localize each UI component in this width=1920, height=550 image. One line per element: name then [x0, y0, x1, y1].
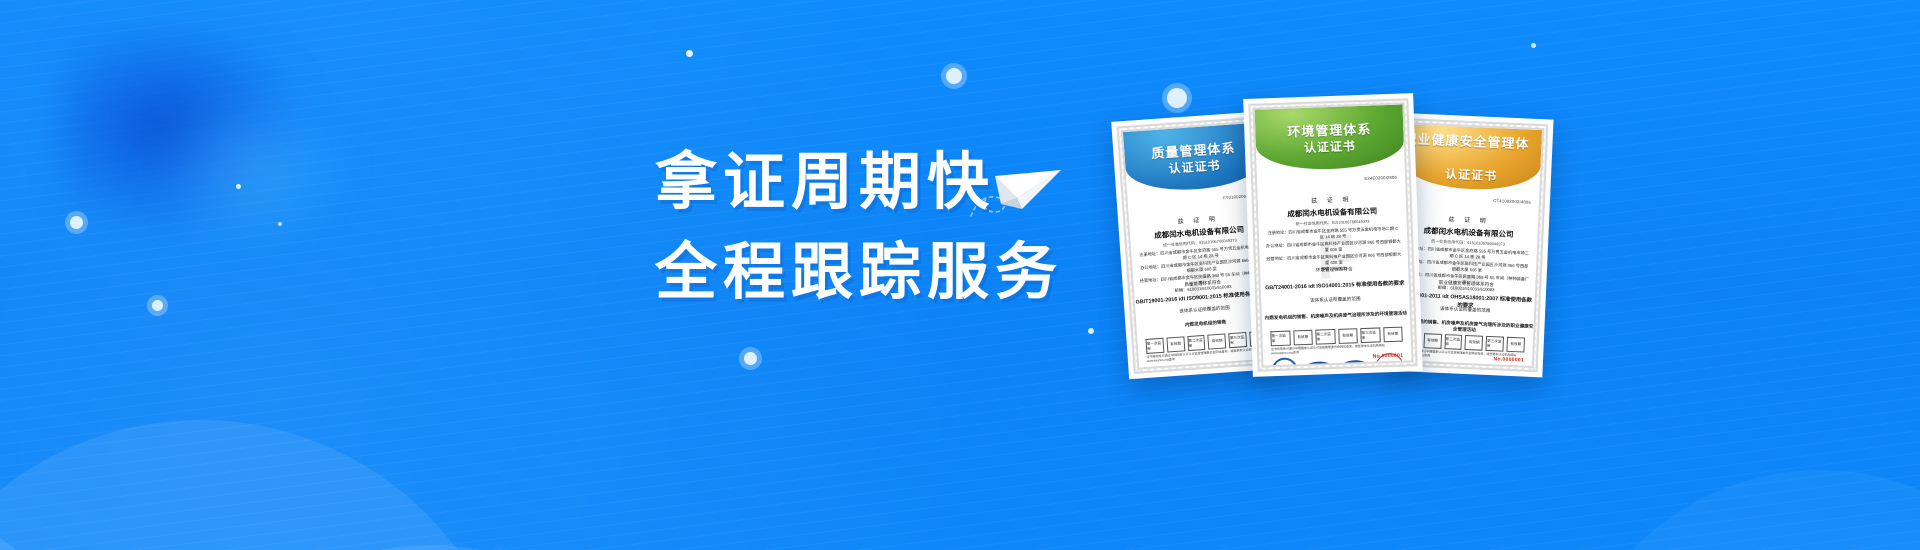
certificate-content: 环境管理体系 认证证书 F E24E0200I2806 兹 证 明 成都闰水电机… — [1255, 104, 1412, 365]
background-glow-blob-secondary — [150, 90, 350, 250]
certificate-title-line1: 环境管理体系 — [1287, 120, 1372, 140]
certificate-scope: 内燃发电机组的销售、机房噪声及机房废气治理所涉及的环境管理活动 — [1262, 310, 1410, 321]
certificate-serial: No.0000001 — [1493, 356, 1524, 363]
decorative-dot — [686, 50, 693, 57]
accreditation-seal-icon: 囧 — [1271, 357, 1298, 365]
decorative-ring — [946, 68, 962, 84]
certificate-number: CT41002002I4806 — [1493, 198, 1531, 205]
certificate-title-line2: 认证证书 — [1168, 157, 1221, 177]
decorative-dot — [1088, 328, 1094, 334]
paper-plane-icon — [965, 150, 1085, 240]
certificate-title-line2: 认证证书 — [1304, 138, 1357, 156]
decorative-ring — [744, 352, 757, 365]
certificate-title-line1: 职业健康安全管理体系 — [1402, 130, 1541, 170]
decorative-dot — [236, 184, 241, 189]
certificate-title-line2: 认证证书 — [1445, 166, 1498, 184]
promo-banner: 拿证周期快 全程跟踪服务 质量管理体系 认证证书 F CT0100200I280… — [0, 0, 1920, 550]
certificate-group: 质量管理体系 认证证书 F CT0100200I2806 兹 证 明 成都闰水电… — [1120, 60, 1920, 460]
certificate-header: 职业健康安全管理体系 认证证书 — [1402, 124, 1543, 192]
certificate-header: 环境管理体系 认证证书 — [1255, 104, 1405, 171]
decorative-ring — [70, 216, 83, 229]
decorative-dot — [278, 222, 282, 226]
certificate-serial: No.0000001 — [1373, 353, 1404, 360]
certificate-number: E24E0200I2806 — [1364, 175, 1397, 181]
decorative-ring — [152, 300, 163, 311]
decorative-dot — [1531, 43, 1536, 48]
certificate-card-environment[interactable]: 环境管理体系 认证证书 F E24E0200I2806 兹 证 明 成都闰水电机… — [1243, 93, 1423, 377]
certificate-scope-label: 该体系认证所覆盖的范围 — [1261, 294, 1409, 305]
